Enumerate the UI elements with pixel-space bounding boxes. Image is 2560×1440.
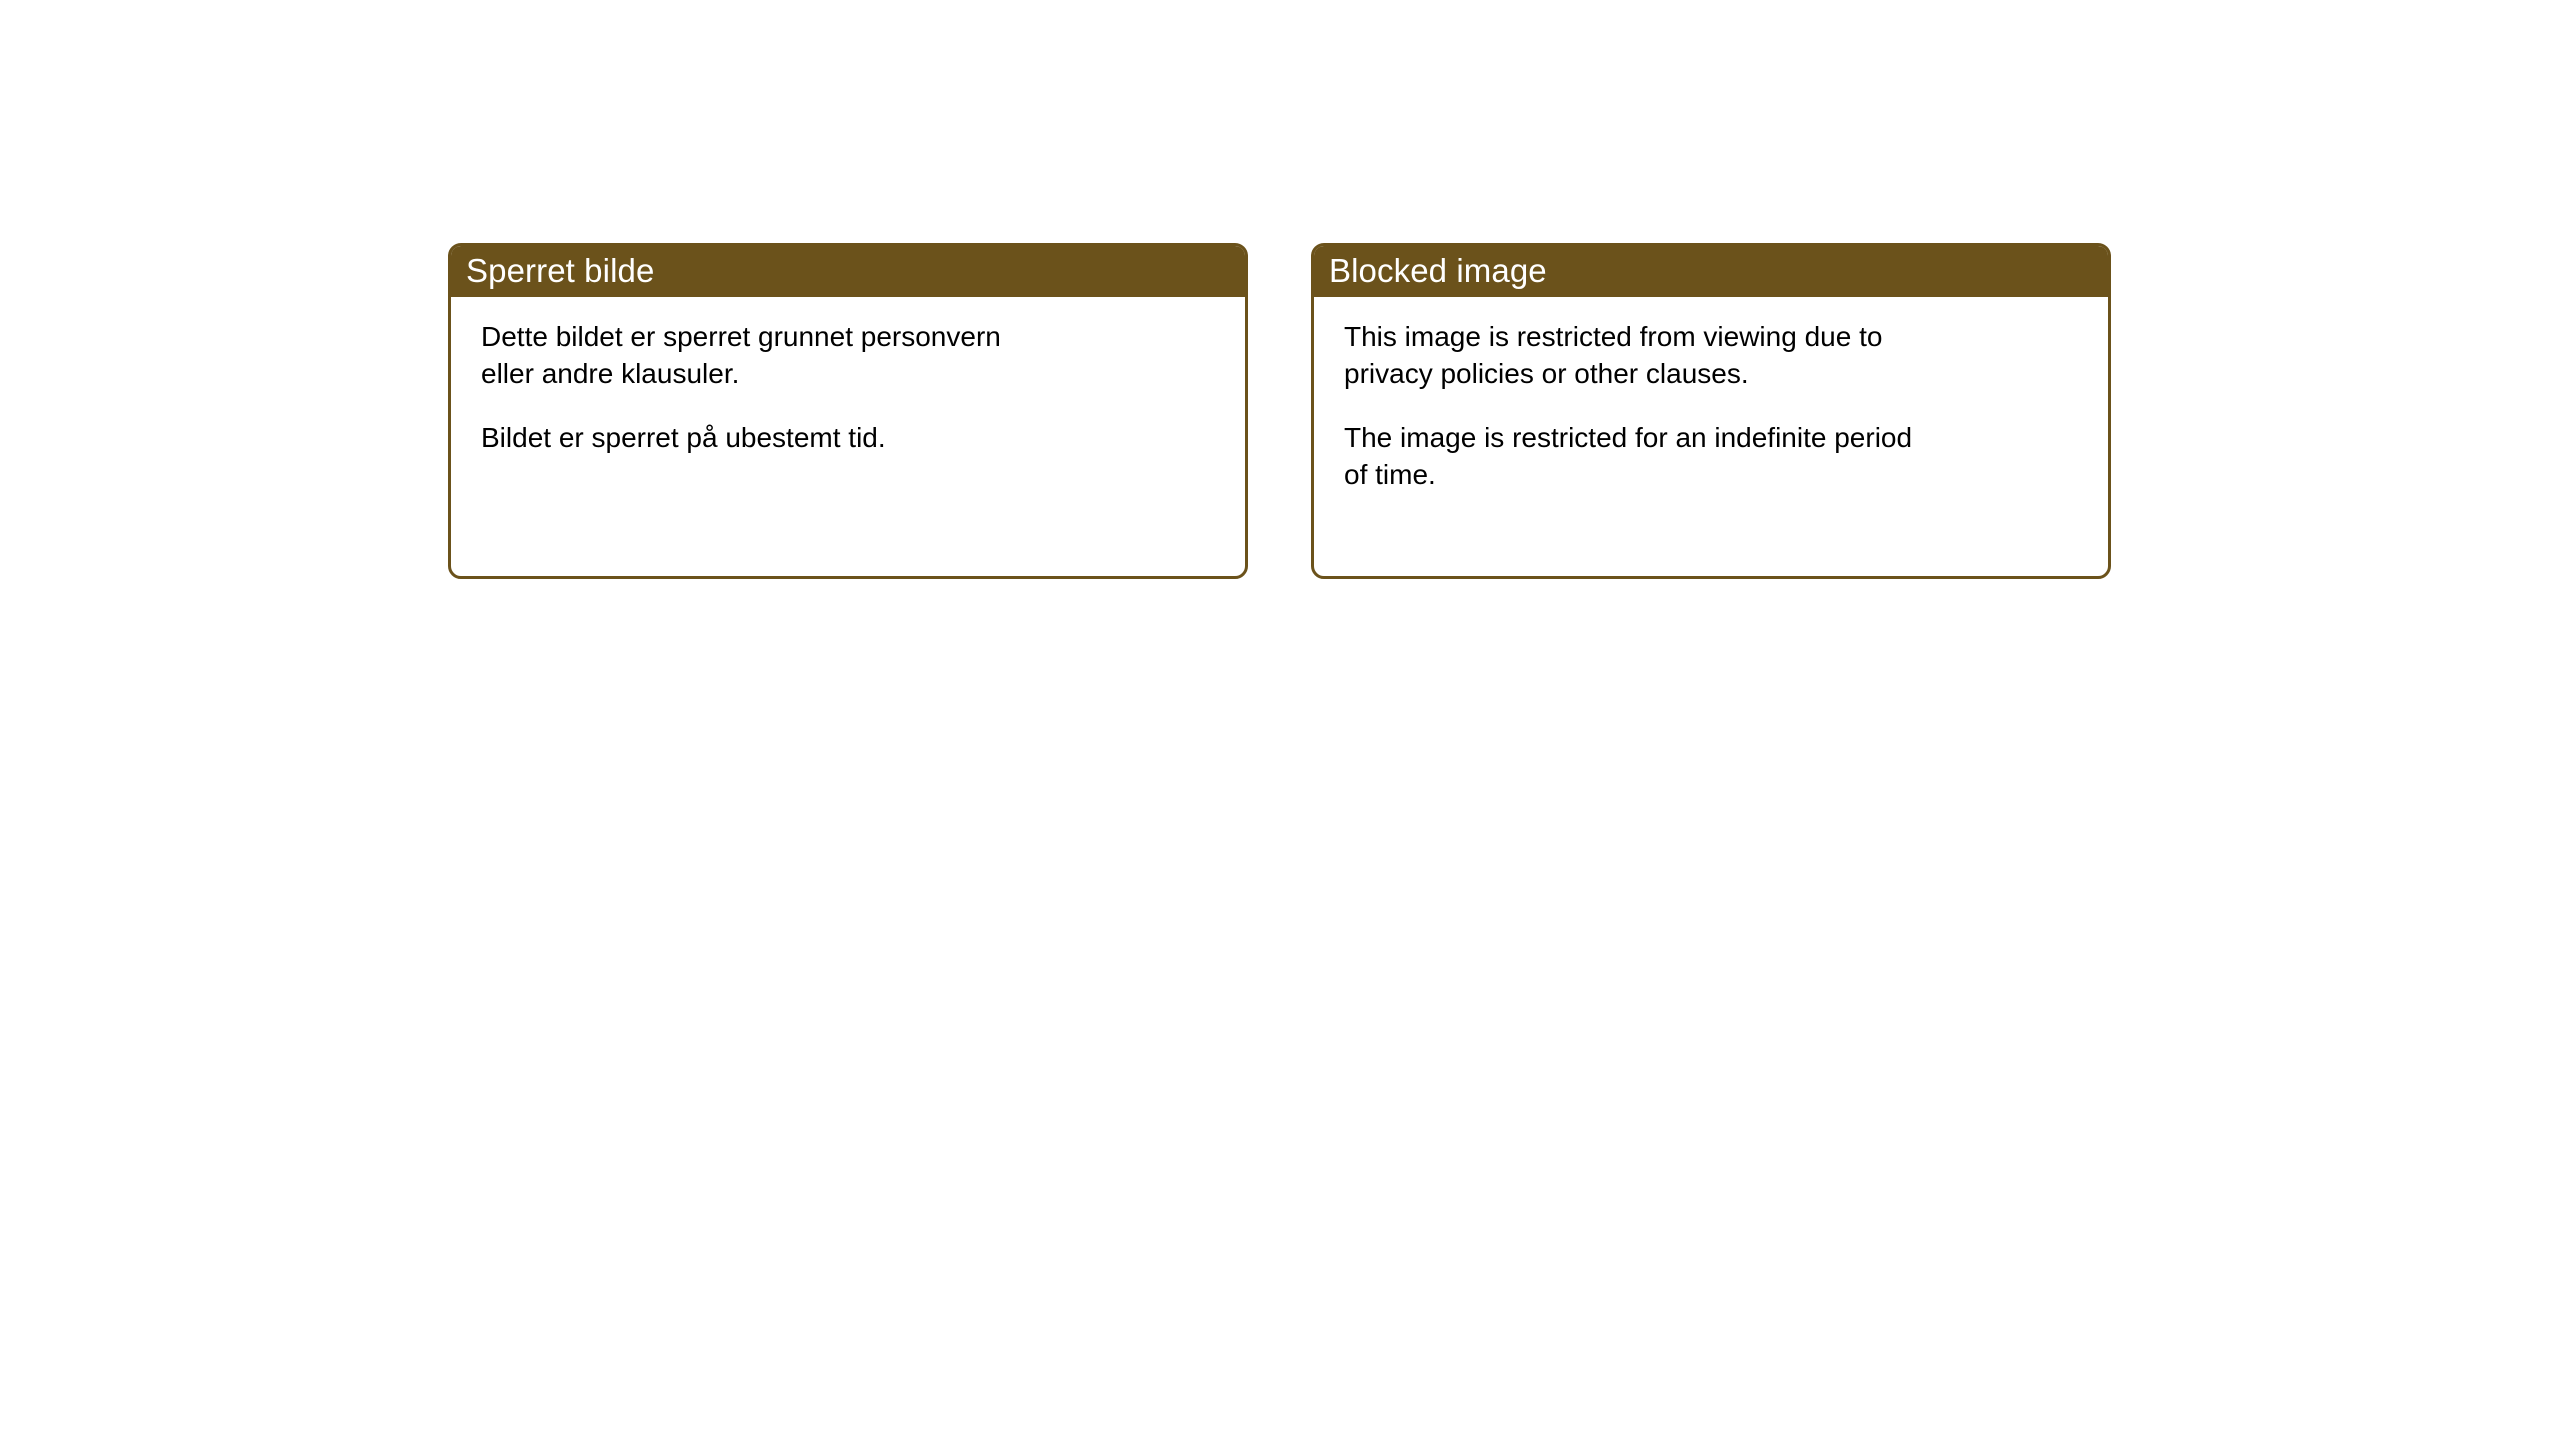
- card-paragraph-reason-english: This image is restricted from viewing du…: [1344, 319, 2084, 393]
- card-header-norwegian: Sperret bilde: [448, 243, 1248, 297]
- card-paragraph-reason-norwegian: Dette bildet er sperret grunnet personve…: [481, 319, 1221, 393]
- card-paragraph-duration-norwegian: Bildet er sperret på ubestemt tid.: [481, 420, 1221, 457]
- blocked-image-card-norwegian: Sperret bilde Dette bildet er sperret gr…: [448, 243, 1248, 579]
- card-title-english: Blocked image: [1329, 254, 1547, 287]
- card-title-norwegian: Sperret bilde: [466, 254, 654, 287]
- card-body-english: This image is restricted from viewing du…: [1314, 297, 2108, 494]
- blocked-image-card-english: Blocked image This image is restricted f…: [1311, 243, 2111, 579]
- card-body-norwegian: Dette bildet er sperret grunnet personve…: [451, 297, 1245, 457]
- page-canvas: Sperret bilde Dette bildet er sperret gr…: [0, 0, 2560, 1440]
- card-header-english: Blocked image: [1311, 243, 2111, 297]
- card-paragraph-duration-english: The image is restricted for an indefinit…: [1344, 420, 2084, 494]
